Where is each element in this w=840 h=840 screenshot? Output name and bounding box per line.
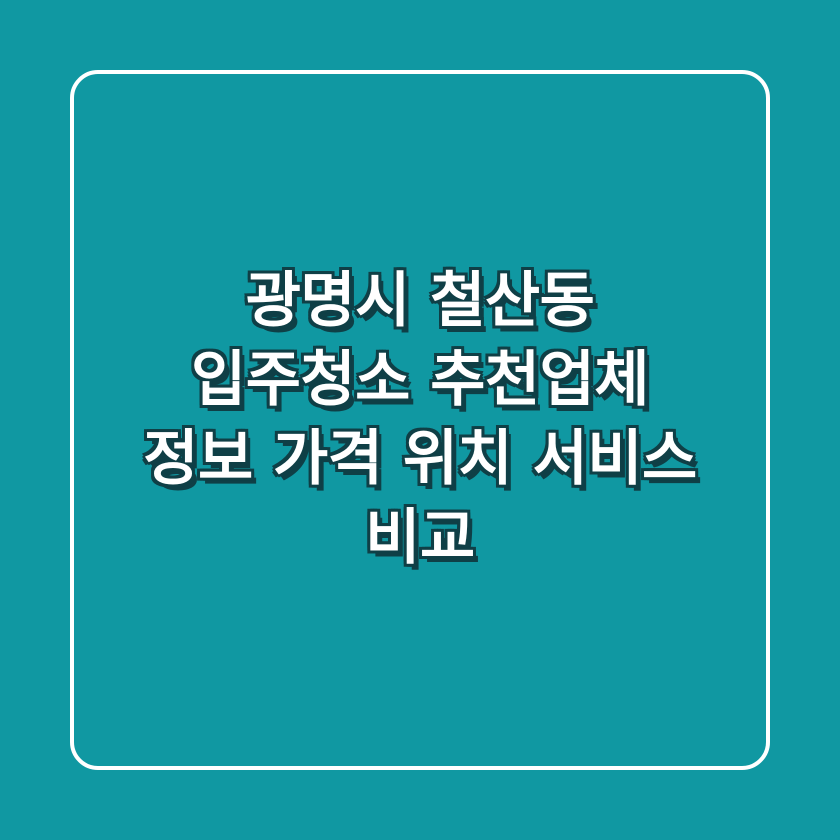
title-container: 광명시 철산동 입주청소 추천업체 정보 가격 위치 서비스 비교: [70, 70, 770, 770]
thumbnail-card: 광명시 철산동 입주청소 추천업체 정보 가격 위치 서비스 비교: [0, 0, 840, 840]
page-title: 광명시 철산동 입주청소 추천업체 정보 가격 위치 서비스 비교: [143, 262, 696, 579]
